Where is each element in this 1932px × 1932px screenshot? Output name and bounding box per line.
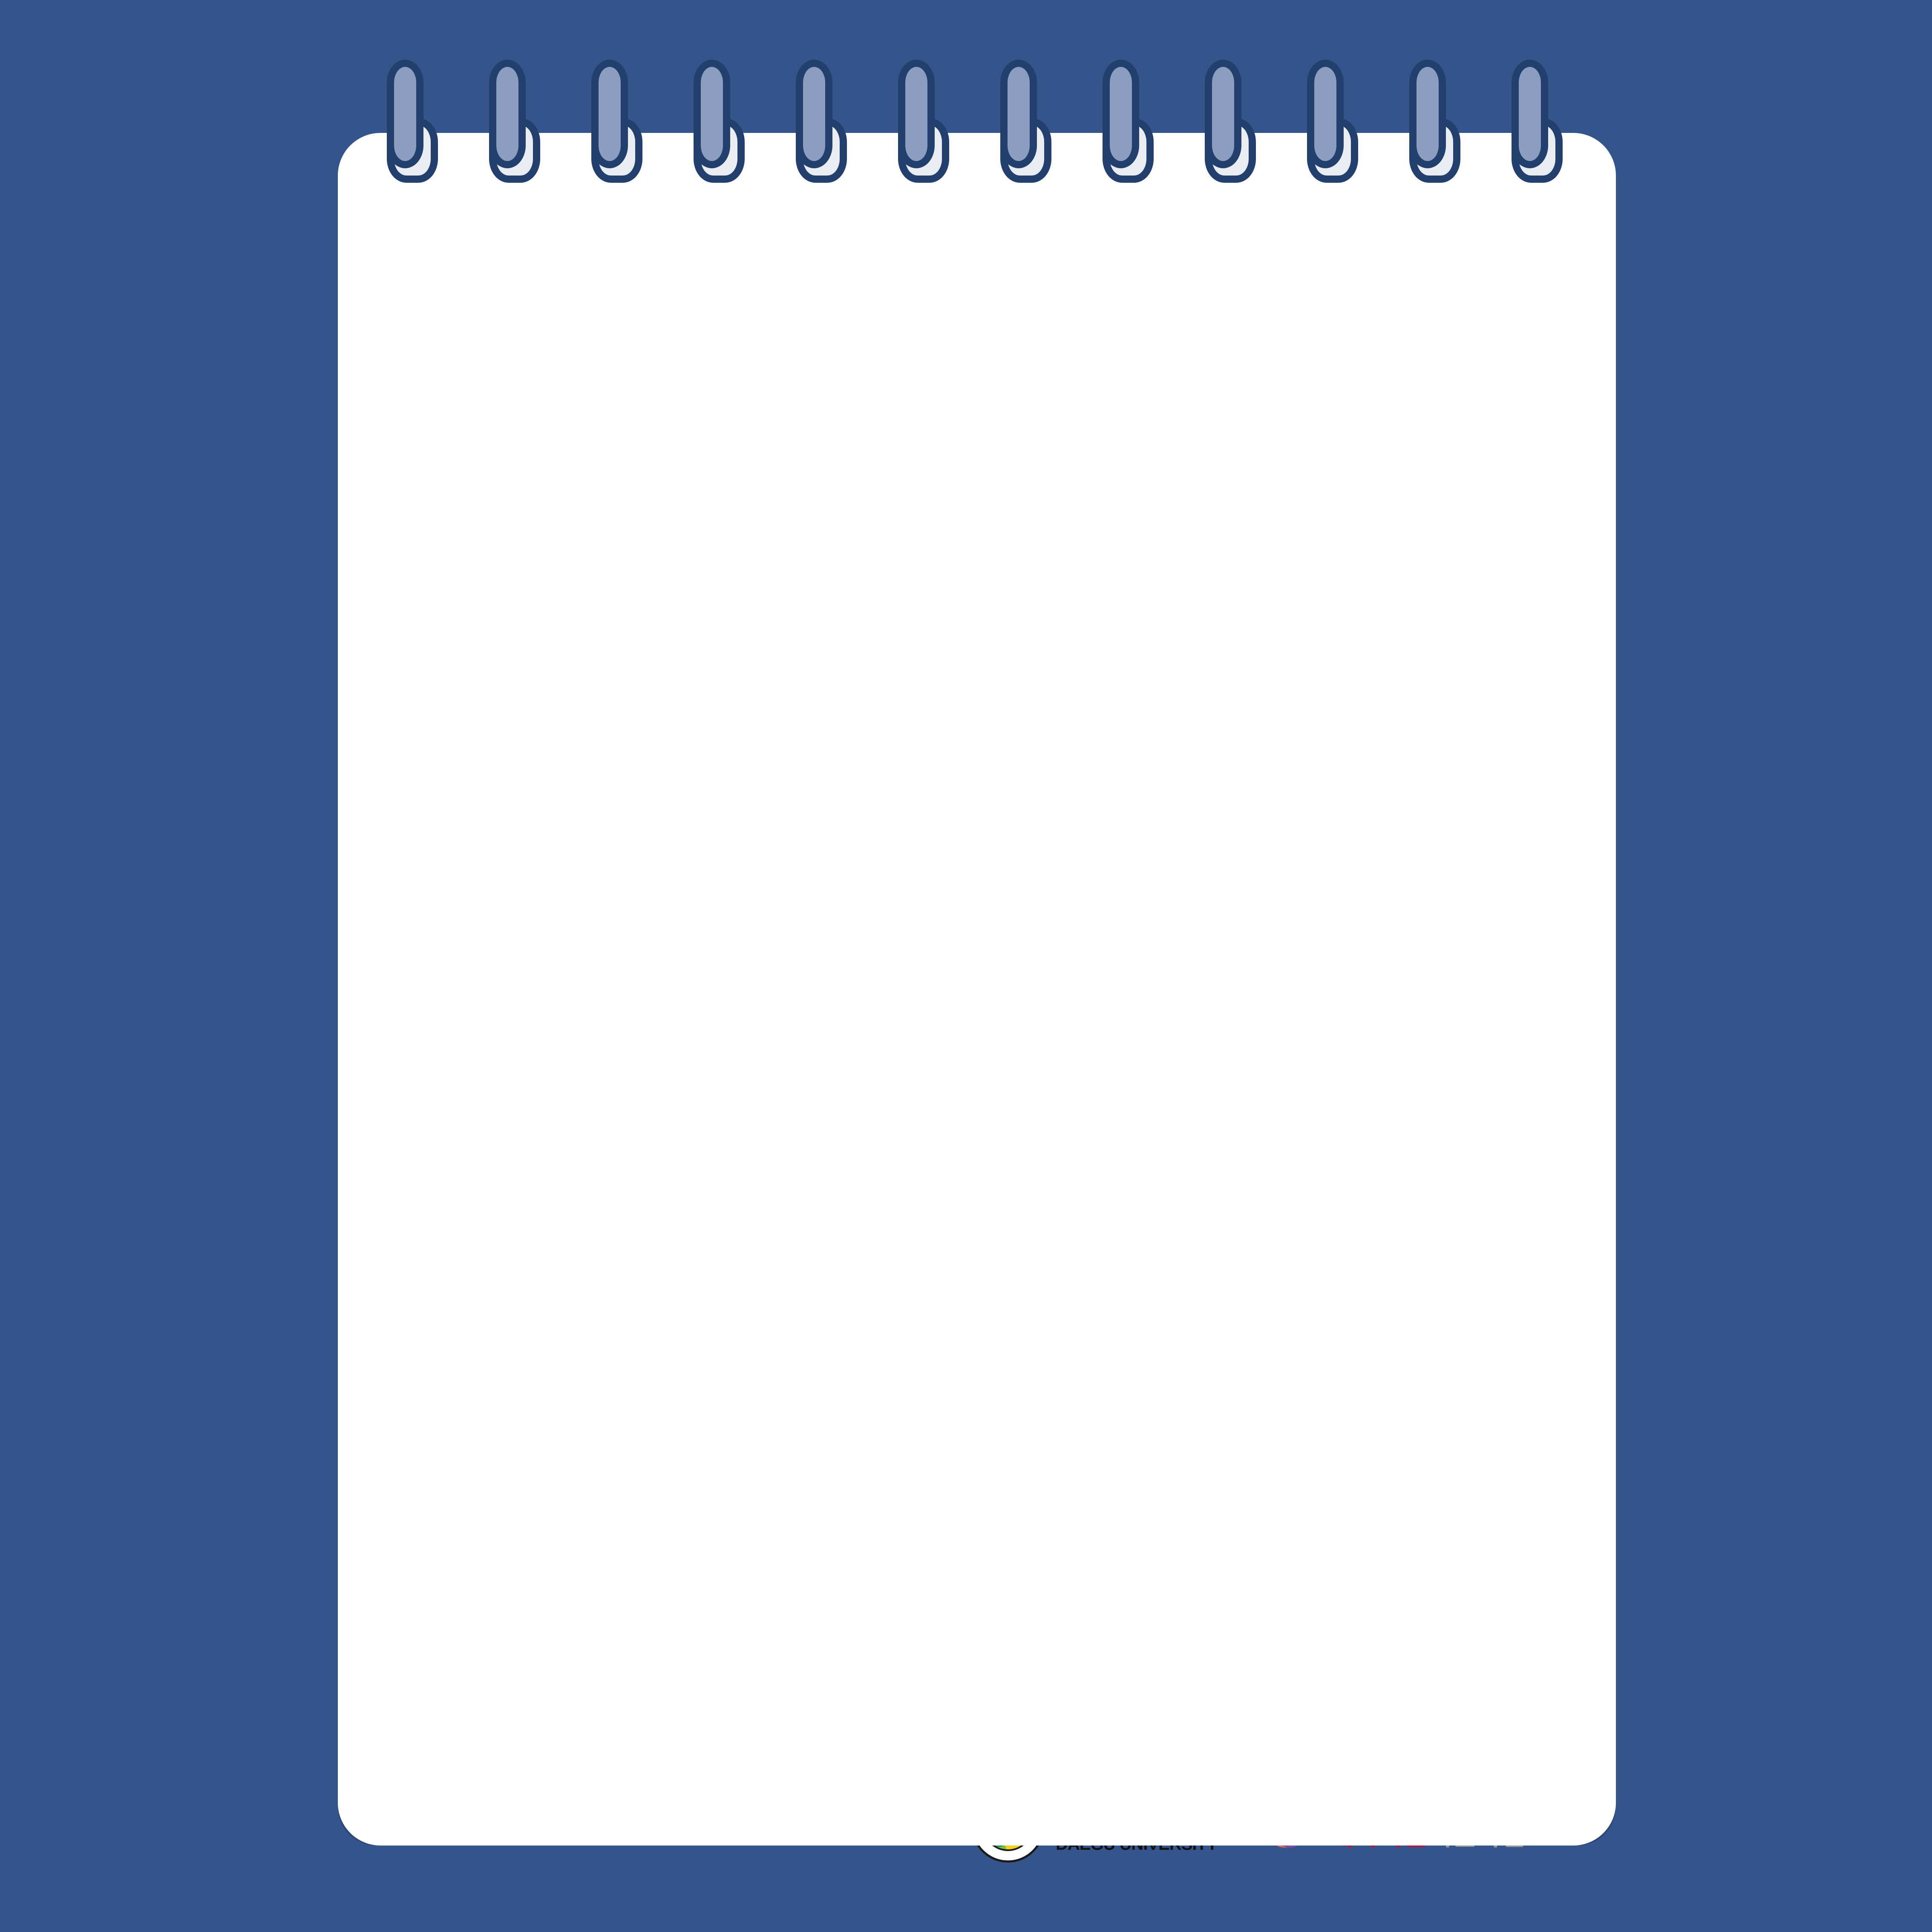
spiral-ring <box>878 60 980 170</box>
spiral-ring <box>366 60 469 170</box>
spiral-ring <box>571 60 673 170</box>
spiral-ring <box>1287 60 1389 170</box>
spiral-binding <box>366 60 1602 170</box>
spiral-ring <box>1082 60 1184 170</box>
spiral-ring <box>1389 60 1491 170</box>
poster-card <box>338 133 1616 1846</box>
spiral-ring <box>1184 60 1287 170</box>
spiral-ring <box>980 60 1082 170</box>
spiral-ring <box>469 60 571 170</box>
spiral-ring <box>673 60 775 170</box>
spiral-ring <box>775 60 878 170</box>
spiral-ring <box>1491 60 1593 170</box>
